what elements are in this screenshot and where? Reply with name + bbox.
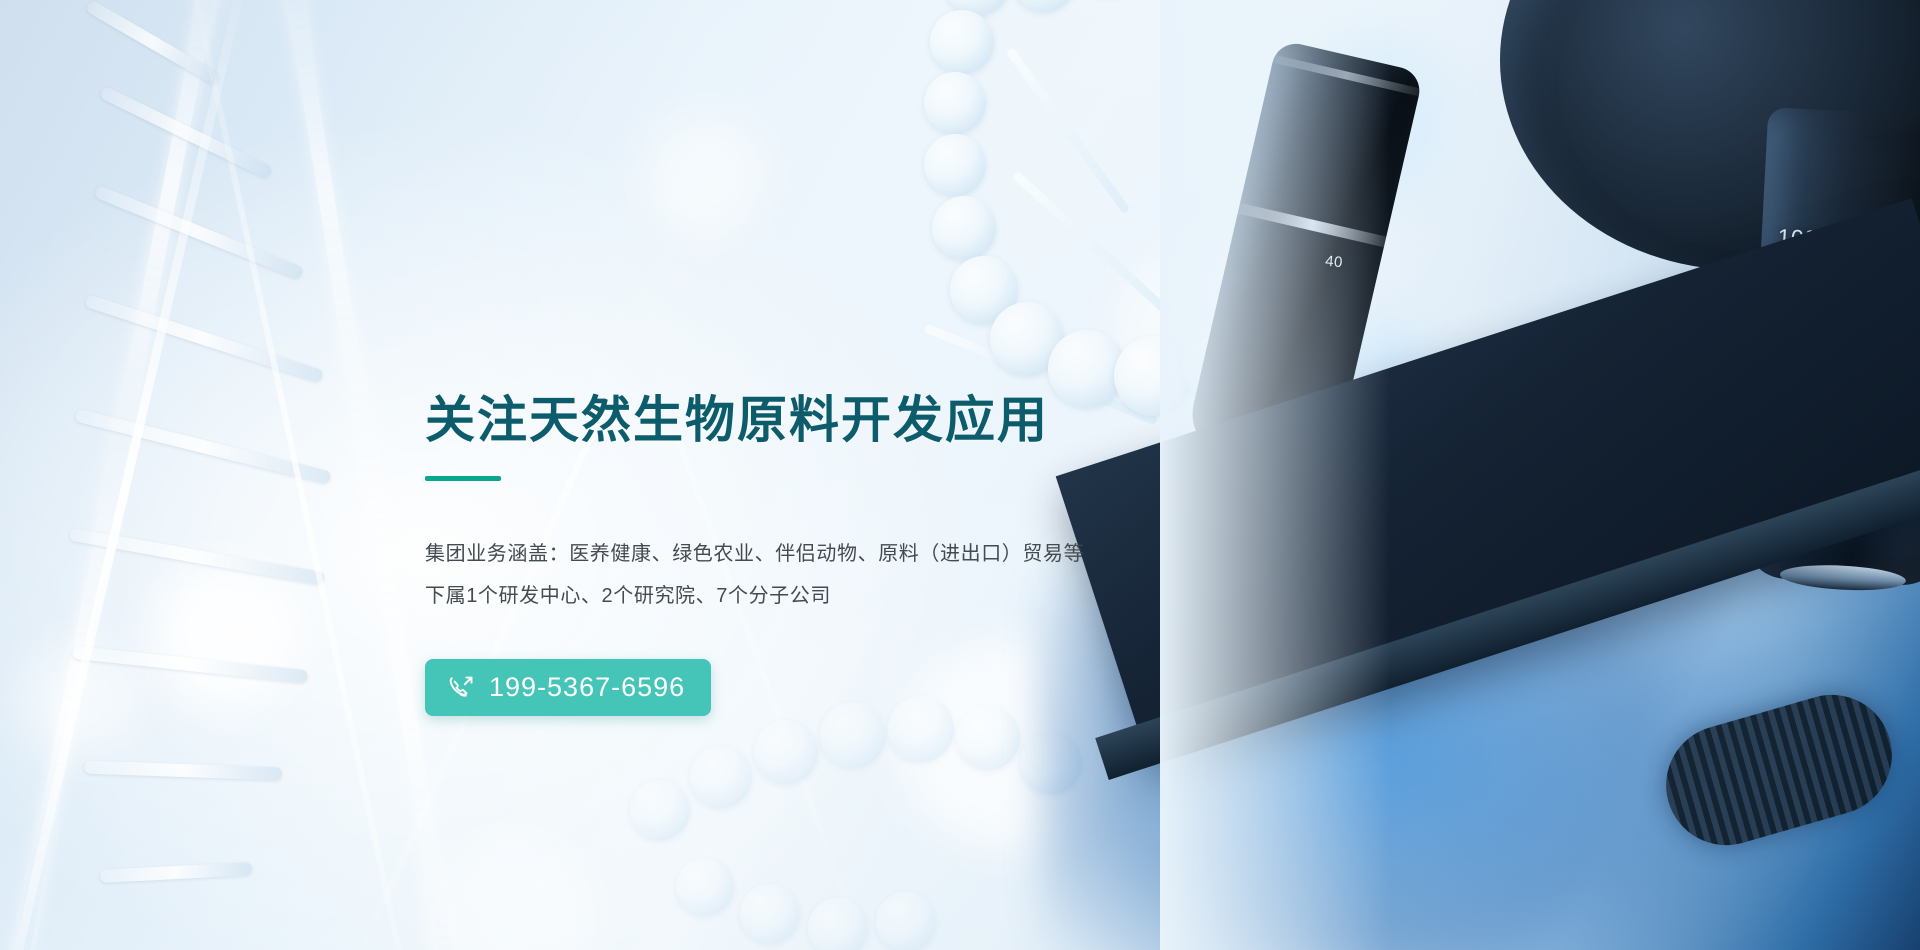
molecule-node xyxy=(930,10,994,74)
helix-rung xyxy=(94,185,305,280)
bokeh-spot xyxy=(430,830,600,950)
helix-rung xyxy=(99,85,274,179)
molecule-node xyxy=(1298,266,1368,336)
molecule-node xyxy=(990,302,1064,376)
outgoing-call-icon xyxy=(447,674,475,702)
helix-rung xyxy=(0,421,155,480)
objective-band xyxy=(1831,337,1920,355)
helix-rung xyxy=(74,409,331,485)
bokeh-spot xyxy=(1325,330,1445,450)
title-underline-rule xyxy=(425,476,501,481)
description-line-1: 集团业务涵盖：医养健康、绿色农业、伴侣动物、原料（进出口）贸易等 xyxy=(425,533,1325,575)
molecule-node xyxy=(1012,0,1076,12)
objective-marking-40: 40 xyxy=(1325,253,1344,271)
microscope-focus-knob xyxy=(1652,681,1906,860)
molecule-node xyxy=(944,0,1010,16)
molecule-node xyxy=(950,256,1018,324)
phone-number-label: 199-5367-6596 xyxy=(489,672,685,703)
helix-rung xyxy=(0,422,197,478)
helix-strand xyxy=(11,0,229,950)
objective-marking-100: 100 xyxy=(1780,324,1811,346)
description-line-2: 下属1个研发中心、2个研究院、7个分子公司 xyxy=(425,575,1325,617)
molecule-node xyxy=(740,884,800,944)
objective-lens-tip xyxy=(1779,562,1907,593)
bokeh-spot xyxy=(640,110,770,240)
helix-rung xyxy=(0,437,209,462)
molecule-node xyxy=(876,892,936,950)
helix-rung xyxy=(100,862,252,883)
dna-helix-lower-left xyxy=(0,450,490,950)
helix-rung xyxy=(72,646,308,684)
bokeh-spot xyxy=(150,560,300,710)
microscope-objective-100x: 100/1.25 160/0.17 100 xyxy=(1744,107,1920,587)
objective-band xyxy=(1273,55,1421,97)
hero-banner: 40 100/1.25 160/0.17 100 关注天然生物原料开发应用 集团… xyxy=(0,0,1920,950)
molecule-node xyxy=(808,898,868,950)
molecule-node xyxy=(1246,302,1320,376)
molecule-node xyxy=(690,746,752,808)
molecule-node xyxy=(754,720,818,784)
helix-rung xyxy=(84,761,282,781)
helix-rung xyxy=(85,0,221,86)
molecule-node xyxy=(630,780,690,840)
objective-band xyxy=(1238,203,1387,247)
page-title: 关注天然生物原料开发应用 xyxy=(425,392,1325,448)
helix-rung xyxy=(84,294,324,383)
objective-marking-100-125: 100/1.25 xyxy=(1777,224,1872,256)
molecule-node xyxy=(924,72,986,134)
molecule-node xyxy=(924,134,986,196)
molecule-bond xyxy=(1006,47,1131,214)
molecule-node xyxy=(1020,732,1082,794)
molecule-bond xyxy=(1012,171,1174,318)
glass-streak xyxy=(188,0,418,950)
helix-rung xyxy=(69,528,325,586)
microscope-turret xyxy=(1500,0,1920,270)
banner-description: 集团业务涵盖：医养健康、绿色农业、伴侣动物、原料（进出口）贸易等 下属1个研发中… xyxy=(425,533,1325,617)
phone-cta-button[interactable]: 199-5367-6596 xyxy=(425,659,711,716)
helix-rung xyxy=(0,428,218,471)
molecule-node xyxy=(676,858,734,916)
banner-content: 关注天然生物原料开发应用 集团业务涵盖：医养健康、绿色农业、伴侣动物、原料（进出… xyxy=(425,392,1325,716)
glass-streak xyxy=(0,0,253,950)
bokeh-spot xyxy=(1290,40,1450,200)
bokeh-spot xyxy=(20,640,140,760)
objective-marking-160-017: 160/0.17 xyxy=(1795,265,1870,290)
molecule-node xyxy=(932,196,996,260)
